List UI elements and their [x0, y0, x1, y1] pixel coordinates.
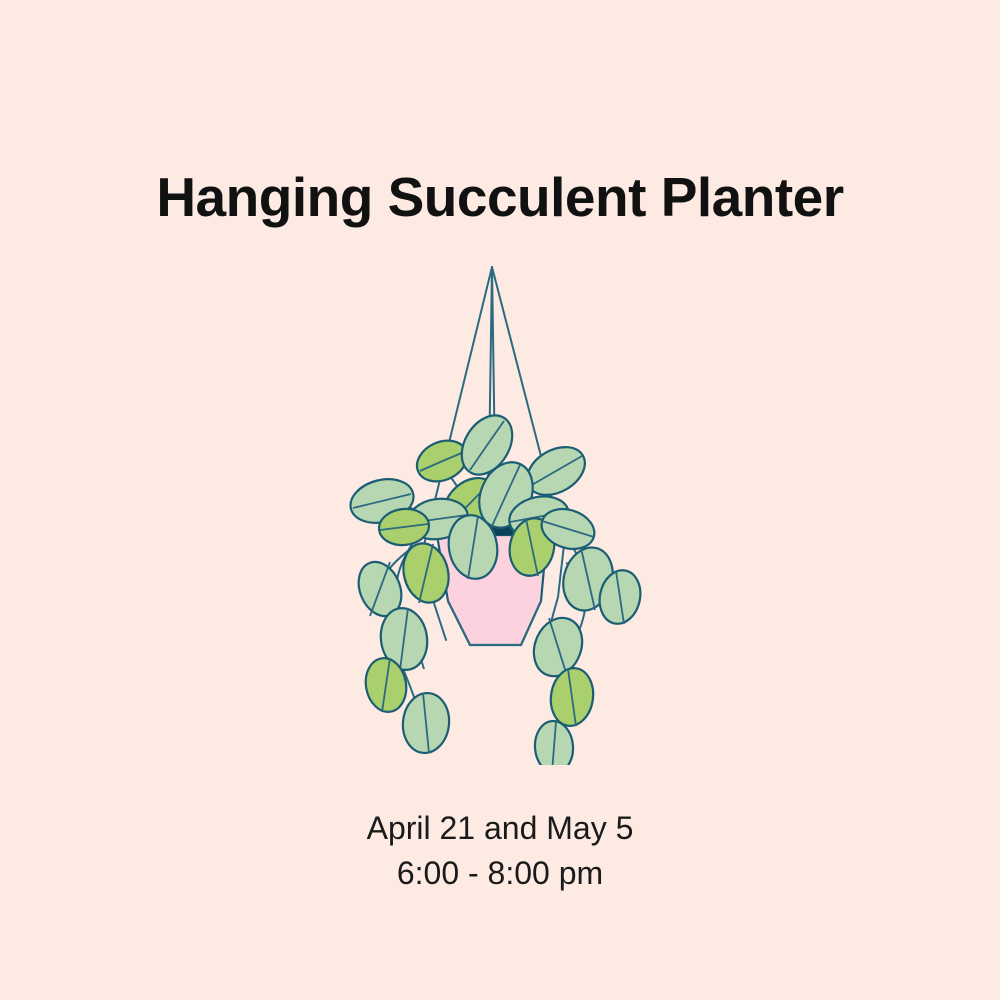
leaf [400, 691, 452, 755]
poster-canvas: Hanging Succulent Planter [0, 0, 1000, 1000]
session-dates: April 21 and May 5 [0, 806, 1000, 851]
plant-illustration-svg [320, 245, 680, 765]
session-info: April 21 and May 5 6:00 - 8:00 pm [0, 806, 1000, 897]
session-time: 6:00 - 8:00 pm [0, 851, 1000, 896]
page-title: Hanging Succulent Planter [0, 167, 1000, 228]
hanging-succulent-planter-illustration [320, 245, 680, 765]
